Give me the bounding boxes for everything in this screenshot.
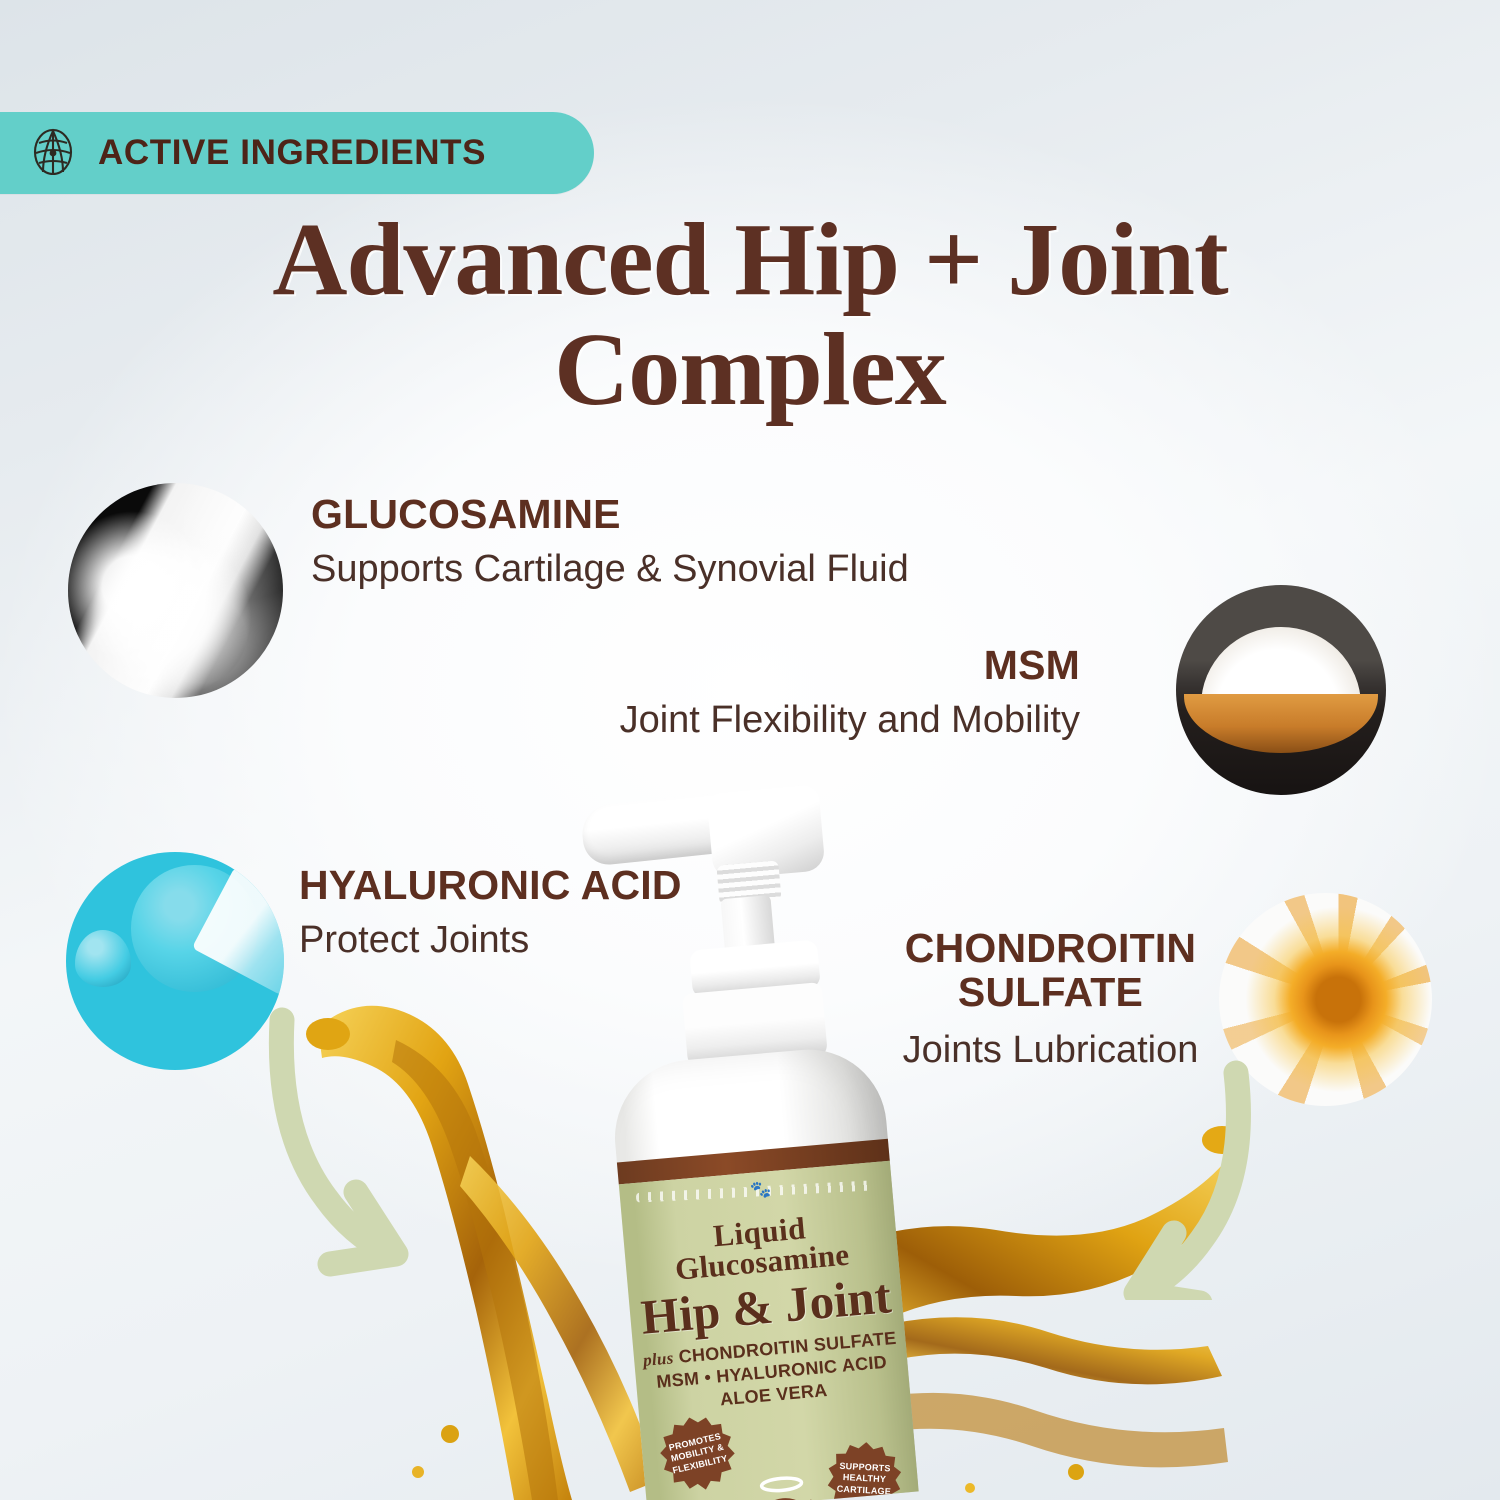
glucosamine-photo [68, 483, 283, 698]
molecule-icon [30, 128, 76, 178]
label-plus-word: plus [642, 1348, 674, 1370]
arrow-left-icon [268, 1002, 438, 1282]
ingredient-name: MSM [470, 643, 1080, 687]
ingredient-description: Supports Cartilage & Synovial Fluid [311, 548, 909, 592]
hyaluronic-acid-photo [66, 852, 284, 1070]
bottle-body: 🐾 Liquid Glucosamine Hip & Joint plus CH… [609, 1043, 919, 1500]
active-ingredients-label: ACTIVE INGREDIENTS [98, 133, 486, 173]
ingredient-chondroitin-sulfate: CHONDROITIN SULFATE Joints Lubrication [838, 926, 1263, 1072]
dog-mascot-icon [735, 1467, 833, 1500]
ingredient-msm: MSM Joint Flexibility and Mobility [470, 643, 1080, 743]
ingredient-name: GLUCOSAMINE [311, 492, 909, 536]
headline-line-1: Advanced Hip + Joint [272, 202, 1227, 317]
ingredient-name-line-2: SULFATE [838, 970, 1263, 1014]
active-ingredients-tab: ACTIVE INGREDIENTS [0, 112, 594, 194]
msm-photo [1176, 585, 1386, 795]
page-title: Advanced Hip + Joint Complex [0, 205, 1500, 425]
badge-cartilage: SUPPORTS HEALTHY CARTILAGE [826, 1440, 904, 1500]
ingredient-description: Joint Flexibility and Mobility [470, 699, 1080, 743]
badge-mobility: PROMOTES MOBILITY & FLEXIBILITY [653, 1409, 742, 1498]
arrow-right-icon [1078, 1055, 1258, 1300]
wooden-spoon [1184, 694, 1377, 753]
paw-print-icon: 🐾 [750, 1179, 773, 1201]
bottle-label: 🐾 Liquid Glucosamine Hip & Joint plus CH… [619, 1161, 919, 1500]
ingredient-name-line-1: CHONDROITIN [838, 926, 1263, 970]
gel-drop-small [75, 930, 132, 987]
infographic-poster: ACTIVE INGREDIENTS Advanced Hip + Joint … [0, 0, 1500, 1500]
product-bottle: 🐾 Liquid Glucosamine Hip & Joint plus CH… [560, 785, 890, 1500]
ingredient-glucosamine: GLUCOSAMINE Supports Cartilage & Synovia… [311, 492, 909, 592]
headline-line-2: Complex [0, 315, 1500, 425]
